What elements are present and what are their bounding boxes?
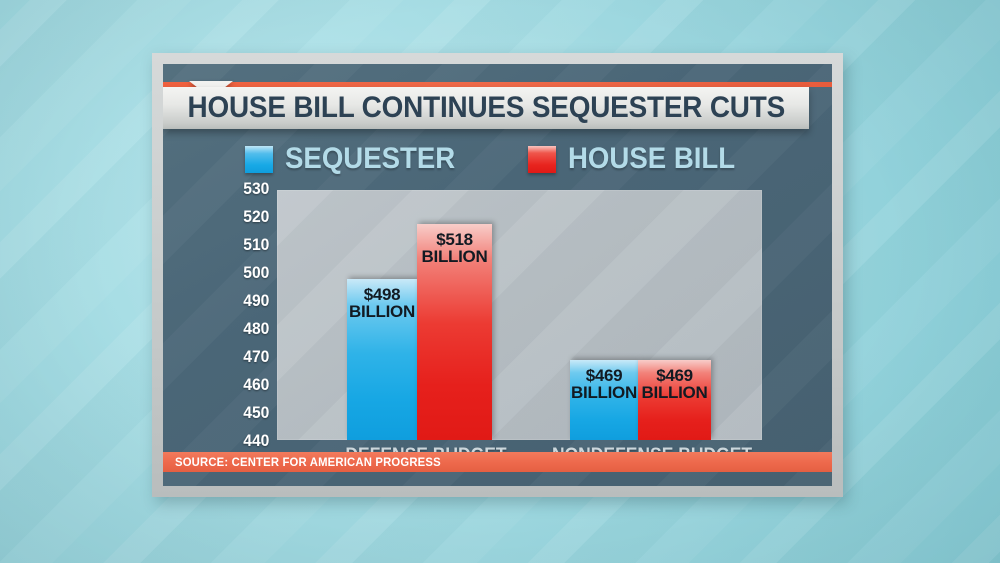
y-axis: 530 520 510 500 490 480 470 460 450 440 — [217, 189, 269, 445]
y-tick-490: 490 — [243, 291, 269, 311]
bar-unit-defense-house-bill: BILLION — [417, 248, 492, 265]
y-tick-470: 470 — [243, 347, 269, 367]
chart-area: 530 520 510 500 490 480 470 460 450 440 … — [163, 64, 832, 486]
graphic-frame: HOUSE BILL CONTINUES SEQUESTER CUTS SEQU… — [152, 53, 843, 497]
bar-defense-house-bill[interactable]: $518 BILLION — [417, 224, 492, 440]
y-tick-480: 480 — [243, 319, 269, 339]
bar-unit-nondefense-house-bill: BILLION — [638, 384, 711, 401]
bar-label-defense-house-bill: $518 BILLION — [417, 231, 492, 265]
bar-label-nondefense-house-bill: $469 BILLION — [638, 367, 711, 401]
source-bar: SOURCE: CENTER FOR AMERICAN PROGRESS — [163, 452, 832, 472]
y-tick-440: 440 — [243, 431, 269, 451]
graphic-panel: HOUSE BILL CONTINUES SEQUESTER CUTS SEQU… — [163, 64, 832, 486]
bar-nondefense-house-bill[interactable]: $469 BILLION — [638, 360, 711, 440]
bar-nondefense-sequester[interactable]: $469 BILLION — [570, 360, 638, 440]
bar-unit-defense-sequester: BILLION — [347, 303, 417, 320]
y-tick-450: 450 — [243, 403, 269, 423]
y-tick-530: 530 — [243, 179, 269, 199]
bar-label-defense-sequester: $498 BILLION — [347, 286, 417, 320]
bar-unit-nondefense-sequester: BILLION — [570, 384, 638, 401]
bar-label-nondefense-sequester: $469 BILLION — [570, 367, 638, 401]
y-tick-500: 500 — [243, 263, 269, 283]
y-tick-460: 460 — [243, 375, 269, 395]
y-tick-510: 510 — [243, 235, 269, 255]
plot-area: $498 BILLION $518 BILLION $469 BILLION — [277, 190, 762, 440]
y-tick-520: 520 — [243, 207, 269, 227]
source-text: SOURCE: CENTER FOR AMERICAN PROGRESS — [175, 455, 441, 469]
bar-defense-sequester[interactable]: $498 BILLION — [347, 279, 417, 440]
